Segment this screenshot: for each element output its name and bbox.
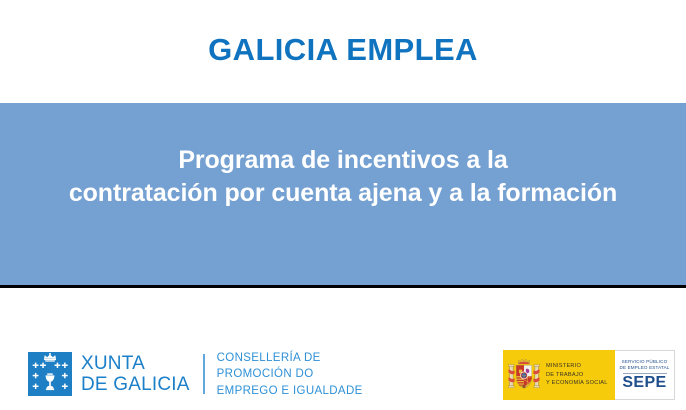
banner-line-2: contratación por cuenta ajena y a la for… (0, 177, 686, 211)
ministerio-line-1: MINISTERIO (546, 362, 608, 371)
xunta-de-galicia-emblem-icon (28, 352, 72, 396)
banner-line-1: Programa de incentivos a la (0, 144, 686, 178)
footer-area: XUNTA DE GALICIA CONSELLERÍA DE PROMOCIÓ… (0, 291, 686, 410)
xunta-de-galicia-logo: XUNTA DE GALICIA CONSELLERÍA DE PROMOCIÓ… (28, 350, 363, 399)
ministerio-text: MINISTERIO DE TRABAJO Y ECONOMÍA SOCIAL (546, 362, 608, 388)
sepe-logo: SERVICIO PÚBLICO DE EMPLEO ESTATAL SEPE (615, 350, 675, 400)
xunta-wordmark-line-2: DE GALICIA (81, 374, 190, 395)
logo-divider (203, 354, 205, 394)
program-banner: Programa de incentivos a la contratación… (0, 103, 686, 288)
page-title: GALICIA EMPLEA (208, 32, 478, 72)
ministerio-line-3: Y ECONOMÍA SOCIAL (546, 379, 608, 388)
sepe-full-name: SERVICIO PÚBLICO DE EMPLEO ESTATAL (619, 359, 669, 372)
conselleria-line-3: EMPREGO E IGUALDADE (217, 383, 363, 399)
xunta-wordmark: XUNTA DE GALICIA (81, 353, 190, 396)
ministerio-sepe-logo: MINISTERIO DE TRABAJO Y ECONOMÍA SOCIAL … (503, 350, 675, 400)
xunta-wordmark-line-1: XUNTA (81, 353, 190, 374)
ministerio-line-2: DE TRABAJO (546, 371, 608, 380)
banner-text: Programa de incentivos a la contratación… (0, 144, 686, 245)
ministerio-de-trabajo-logo: MINISTERIO DE TRABAJO Y ECONOMÍA SOCIAL (503, 350, 615, 400)
header-area: GALICIA EMPLEA (0, 0, 686, 103)
sepe-name-line-2: DE EMPLEO ESTATAL (619, 365, 669, 371)
conselleria-text: CONSELLERÍA DE PROMOCIÓN DO EMPREGO E IG… (217, 350, 363, 399)
sepe-acronym: SEPE (622, 375, 666, 391)
conselleria-line-2: PROMOCIÓN DO (217, 366, 363, 382)
conselleria-line-1: CONSELLERÍA DE (217, 350, 363, 366)
escudo-de-espana-icon (508, 356, 540, 394)
